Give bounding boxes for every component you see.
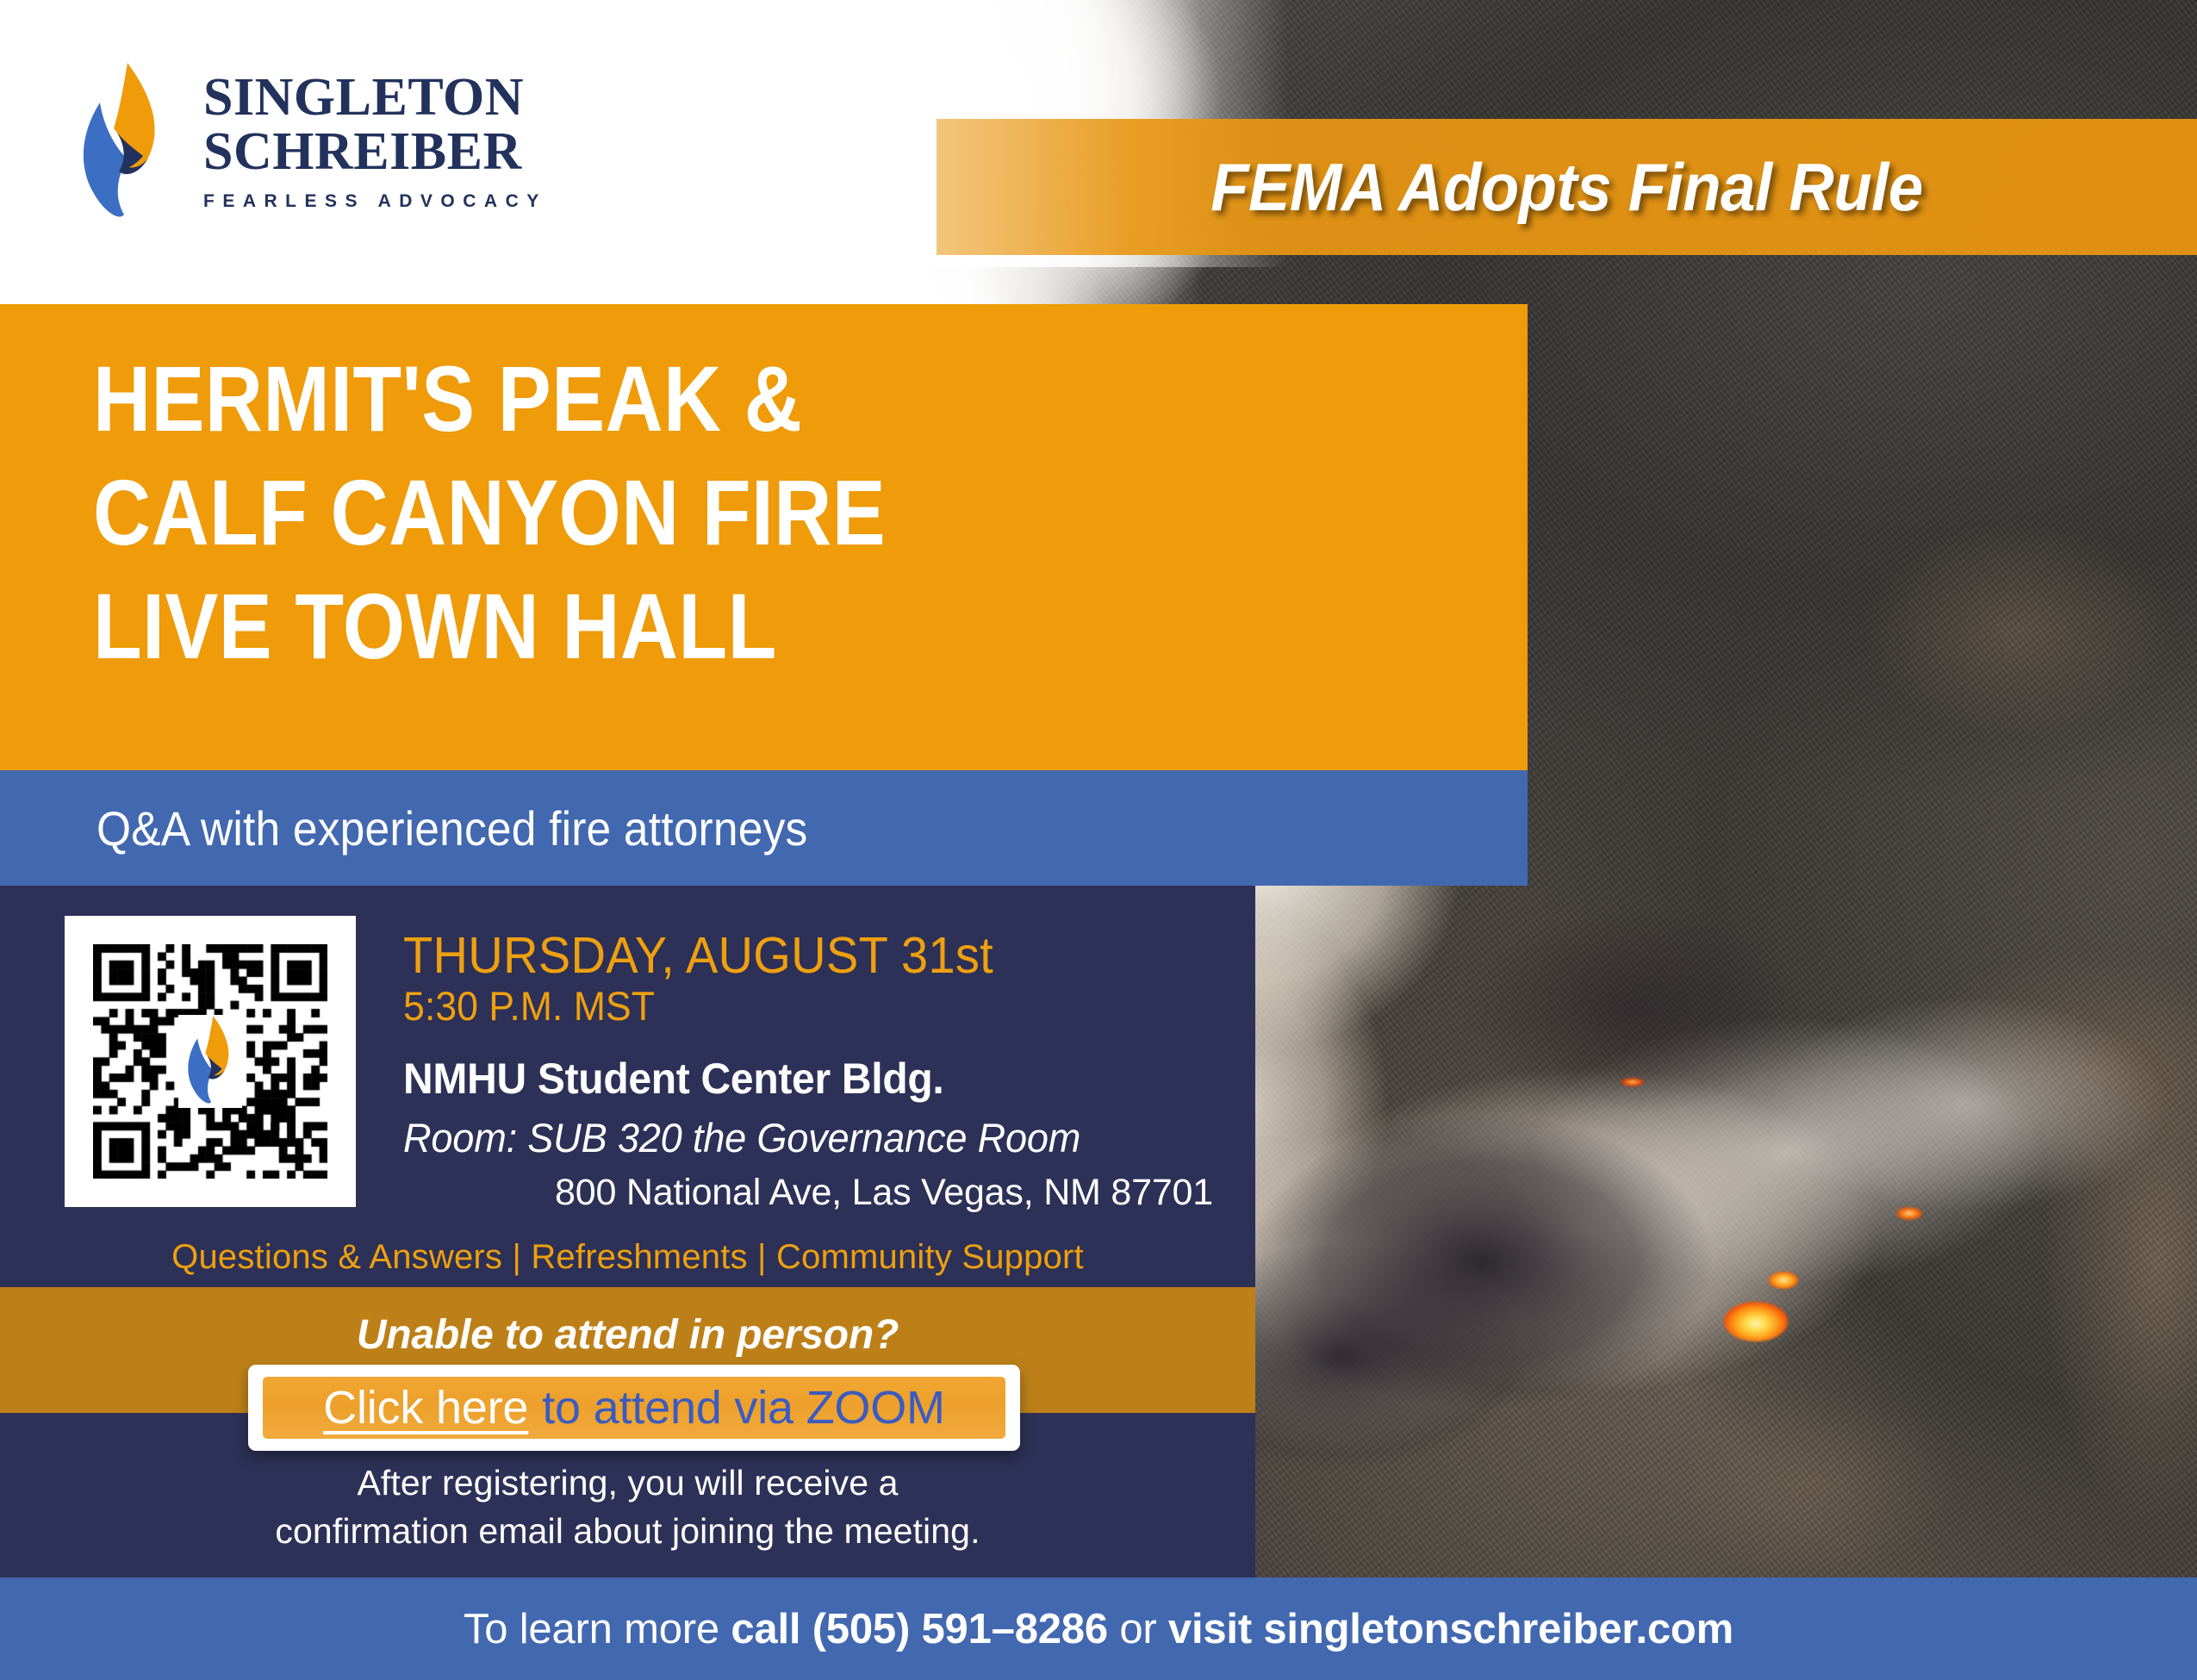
fema-banner-headline: FEMA Adopts Final Rule <box>1211 148 1923 227</box>
logo-tagline: FEARLESS ADVOCACY <box>203 191 547 212</box>
qr-code-card[interactable] <box>65 916 356 1207</box>
fire-hotspot-small <box>1896 1207 1922 1220</box>
footer-contact-text: To learn more call (505) 591–8286 or vis… <box>464 1605 1733 1653</box>
event-info: THURSDAY, AUGUST 31st 5:30 P.M. MST NMHU… <box>403 929 1230 1214</box>
flame-logo-icon <box>74 61 171 225</box>
zoom-register-button-face[interactable]: Click here to attend via ZOOM <box>263 1377 1005 1439</box>
footer-contact-band: To learn more call (505) 591–8286 or vis… <box>0 1577 2197 1680</box>
footer-lead: To learn more <box>464 1606 731 1652</box>
event-room: Room: SUB 320 the Governance Room <box>403 1114 1198 1161</box>
flyer-root: SINGLETON SCHREIBER FEARLESS ADVOCACY FE… <box>0 0 2197 1680</box>
event-venue: NMHU Student Center Bldg. <box>403 1054 1198 1104</box>
event-features: Questions & Answers | Refreshments | Com… <box>0 1238 1255 1277</box>
event-time: 5:30 P.M. MST <box>403 985 1189 1029</box>
remote-prompt-text: Unable to attend in person? <box>0 1311 1255 1359</box>
logo-line-2: SCHREIBER <box>203 128 547 177</box>
qr-code[interactable] <box>93 944 327 1179</box>
zoom-register-link-text[interactable]: Click here <box>323 1381 528 1434</box>
footer-phone[interactable]: call (505) 591–8286 <box>731 1606 1108 1652</box>
fema-banner: FEMA Adopts Final Rule <box>937 119 2197 255</box>
title-line-1: HERMIT'S PEAK & <box>93 352 1204 445</box>
logo-line-1: SINGLETON <box>203 73 547 122</box>
zoom-register-button[interactable]: Click here to attend via ZOOM <box>248 1365 1020 1451</box>
event-address: 800 National Ave, Las Vegas, NM 87701 <box>403 1172 1213 1214</box>
fire-hotspot-main <box>1724 1302 1788 1341</box>
subtitle-text: Q&A with experienced fire attorneys <box>96 800 807 856</box>
footer-mid: or <box>1108 1606 1168 1652</box>
qr-center-flame-icon <box>178 1015 242 1108</box>
registration-note-line-2: confirmation email about joining the mee… <box>0 1508 1255 1556</box>
subtitle-band: Q&A with experienced fire attorneys <box>0 770 1528 886</box>
page-title: HERMIT'S PEAK & CALF CANYON FIRE LIVE TO… <box>93 352 1385 694</box>
brand-header: SINGLETON SCHREIBER FEARLESS ADVOCACY <box>0 0 922 304</box>
logo: SINGLETON SCHREIBER FEARLESS ADVOCACY <box>74 61 547 225</box>
registration-note: After registering, you will receive a co… <box>0 1459 1255 1556</box>
zoom-register-rest-text: to attend via ZOOM <box>542 1381 945 1434</box>
registration-note-line-1: After registering, you will receive a <box>0 1459 1255 1508</box>
footer-website[interactable]: visit singletonschreiber.com <box>1168 1606 1733 1652</box>
logo-wordmark: SINGLETON SCHREIBER FEARLESS ADVOCACY <box>203 73 547 211</box>
fire-hotspot-tiny <box>1621 1078 1644 1086</box>
title-line-3: LIVE TOWN HALL <box>93 580 1204 673</box>
title-block: HERMIT'S PEAK & CALF CANYON FIRE LIVE TO… <box>0 304 1528 770</box>
fire-hotspot-secondary <box>1769 1272 1798 1289</box>
title-line-2: CALF CANYON FIRE <box>93 466 1204 559</box>
event-date: THURSDAY, AUGUST 31st <box>403 929 1189 983</box>
